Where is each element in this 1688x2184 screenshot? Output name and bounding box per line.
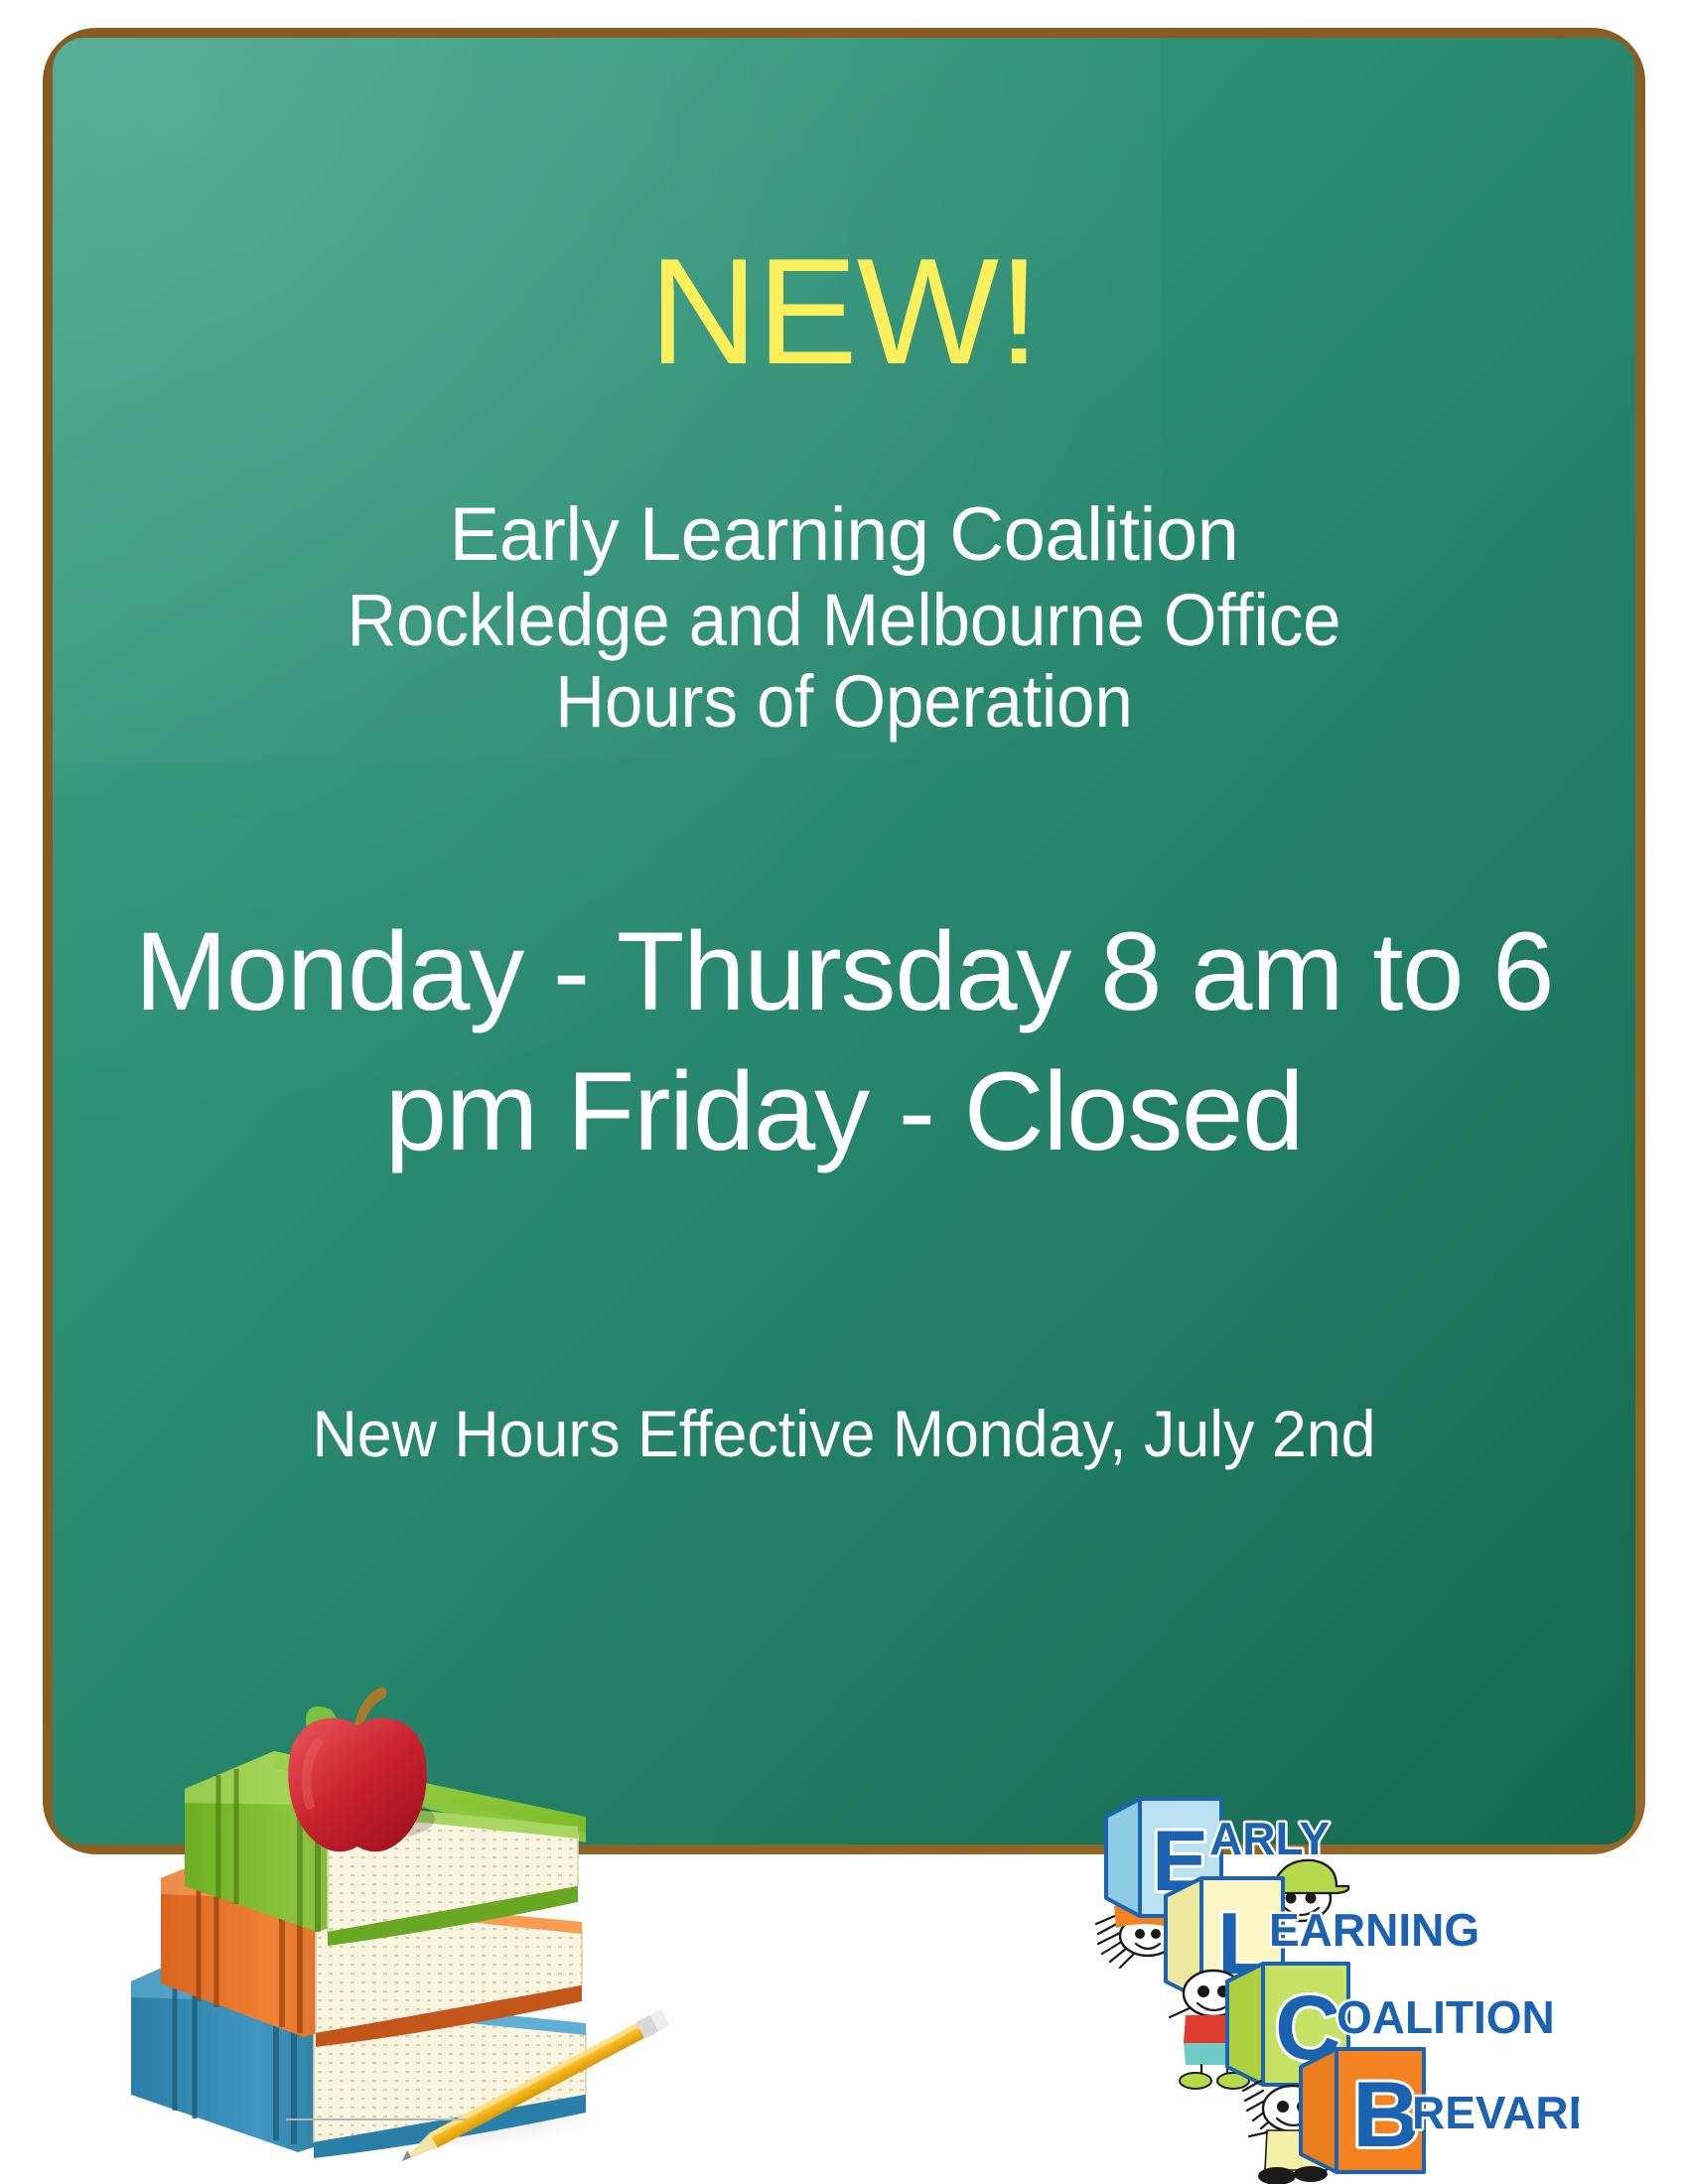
chalkboard-surface: NEW! Early Learning Coalition Rockledge … <box>53 38 1635 1844</box>
svg-text:REVARD: REVARD <box>1412 2087 1579 2138</box>
svg-text:ARLY: ARLY <box>1209 1813 1330 1864</box>
school-supplies-illustration <box>119 1648 735 2184</box>
hours-of-operation-label: Hours of Operation <box>108 661 1580 744</box>
effective-date-note: New Hours Effective Monday, July 2nd <box>92 1398 1596 1470</box>
svg-text:B: B <box>1352 2062 1420 2166</box>
organization-offices: Rockledge and Melbourne Office <box>108 580 1580 662</box>
chalkboard: NEW! Early Learning Coalition Rockledge … <box>43 28 1645 1854</box>
organization-block: Early Learning Coalition Rockledge and M… <box>53 496 1635 744</box>
letter-block-b: B <box>1301 2049 1424 2172</box>
elc-brevard-logo: .lw { font-family:"Liberation Sans","Dej… <box>1062 1787 1579 2184</box>
chalkboard-text-area: NEW! Early Learning Coalition Rockledge … <box>53 38 1635 1844</box>
red-apple <box>288 1688 435 1852</box>
organization-name: Early Learning Coalition <box>53 496 1635 574</box>
desk-edge-line <box>286 2118 467 2120</box>
svg-text:EARNING: EARNING <box>1269 1904 1479 1956</box>
headline-new: NEW! <box>53 236 1635 387</box>
svg-text:OALITION: OALITION <box>1336 1991 1555 2043</box>
hours-main-text: Monday - Thursday 8 am to 6 pm Friday - … <box>82 901 1606 1181</box>
